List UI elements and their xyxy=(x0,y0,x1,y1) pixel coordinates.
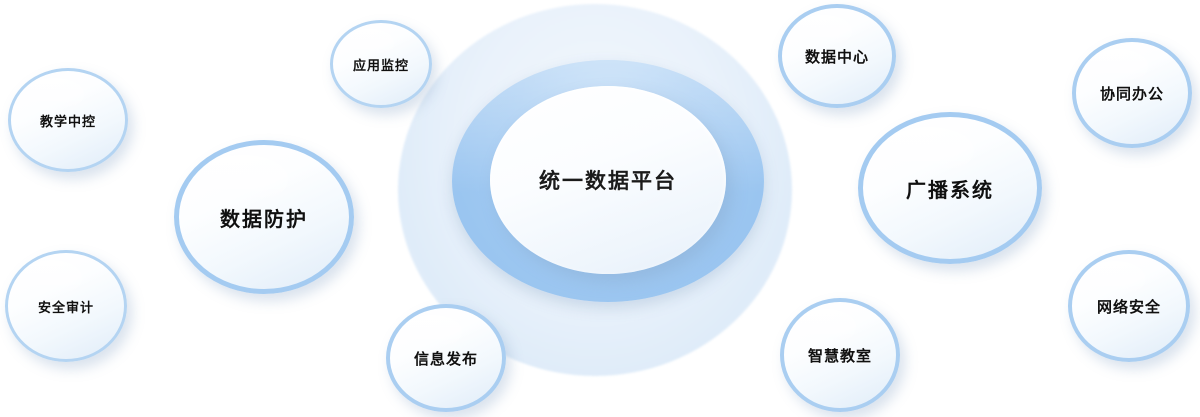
node-bubble[interactable]: 信息发布 xyxy=(386,304,506,412)
node-bubble[interactable]: 数据中心 xyxy=(778,4,896,108)
node-bubble-label: 信息发布 xyxy=(414,348,478,369)
node-bubble[interactable]: 广播系统 xyxy=(858,112,1042,264)
node-bubble-label: 教学中控 xyxy=(40,111,96,130)
node-bubble[interactable]: 智慧教室 xyxy=(780,298,900,412)
node-bubble-label: 协同办公 xyxy=(1100,83,1164,104)
node-bubble-label: 网络安全 xyxy=(1097,296,1161,317)
node-bubble-label: 数据防护 xyxy=(220,203,308,232)
node-bubble[interactable]: 协同办公 xyxy=(1072,38,1192,148)
node-bubble[interactable]: 网络安全 xyxy=(1068,250,1190,362)
diagram-canvas: 统一数据平台 教学中控安全审计数据防护应用监控信息发布数据中心广播系统智慧教室协… xyxy=(0,0,1200,417)
hub-center-label: 统一数据平台 xyxy=(539,165,677,195)
node-bubble-label: 数据中心 xyxy=(805,46,869,67)
node-bubble[interactable]: 数据防护 xyxy=(174,140,354,294)
hub-center-node[interactable]: 统一数据平台 xyxy=(490,86,726,274)
node-bubble[interactable]: 教学中控 xyxy=(8,68,128,172)
node-bubble[interactable]: 应用监控 xyxy=(330,20,432,108)
node-bubble-label: 智慧教室 xyxy=(808,345,872,366)
node-bubble-label: 广播系统 xyxy=(906,174,994,203)
node-bubble[interactable]: 安全审计 xyxy=(5,250,127,362)
node-bubble-label: 应用监控 xyxy=(353,55,409,74)
node-bubble-label: 安全审计 xyxy=(38,297,94,316)
